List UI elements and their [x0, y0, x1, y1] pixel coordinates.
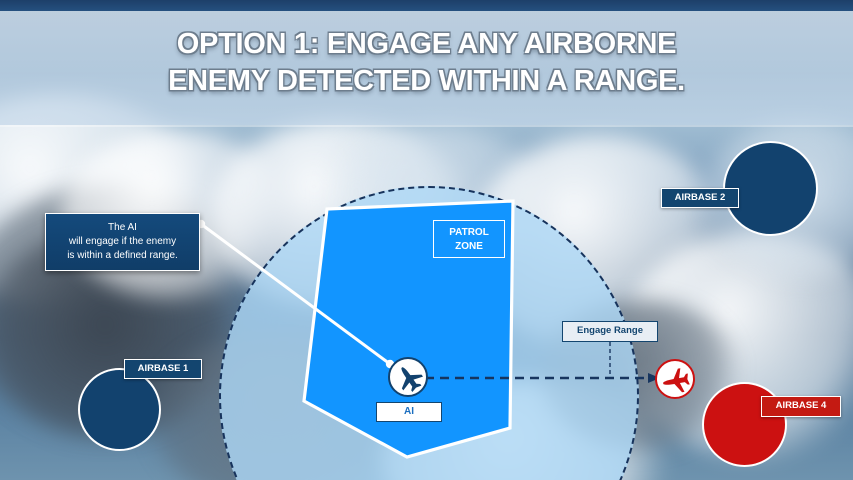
fighter-jet-icon [661, 365, 693, 397]
slide-canvas: OPTION 1: ENGAGE ANY AIRBORNE ENEMY DETE… [0, 0, 853, 480]
patrol-zone-label: PATROL ZONE [433, 220, 505, 258]
ai-explanation-callout: The AI will engage if the enemy is withi… [45, 213, 200, 271]
airbase-1-label: AIRBASE 1 [124, 359, 202, 379]
airbase-4-marker[interactable] [702, 382, 787, 467]
engage-range-label: Engage Range [562, 321, 658, 342]
title-band-divider [0, 125, 853, 127]
airbase-1-marker[interactable] [78, 368, 161, 451]
airbase-4-label: AIRBASE 4 [761, 396, 841, 417]
page-title: OPTION 1: ENGAGE ANY AIRBORNE ENEMY DETE… [0, 26, 853, 100]
enemy-aircraft-marker[interactable] [655, 359, 695, 399]
airbase-2-label: AIRBASE 2 [661, 188, 739, 208]
ai-label: AI [376, 402, 442, 422]
fighter-jet-icon [394, 363, 426, 395]
top-accent-bar [0, 0, 853, 11]
ai-aircraft-marker[interactable] [388, 357, 428, 397]
